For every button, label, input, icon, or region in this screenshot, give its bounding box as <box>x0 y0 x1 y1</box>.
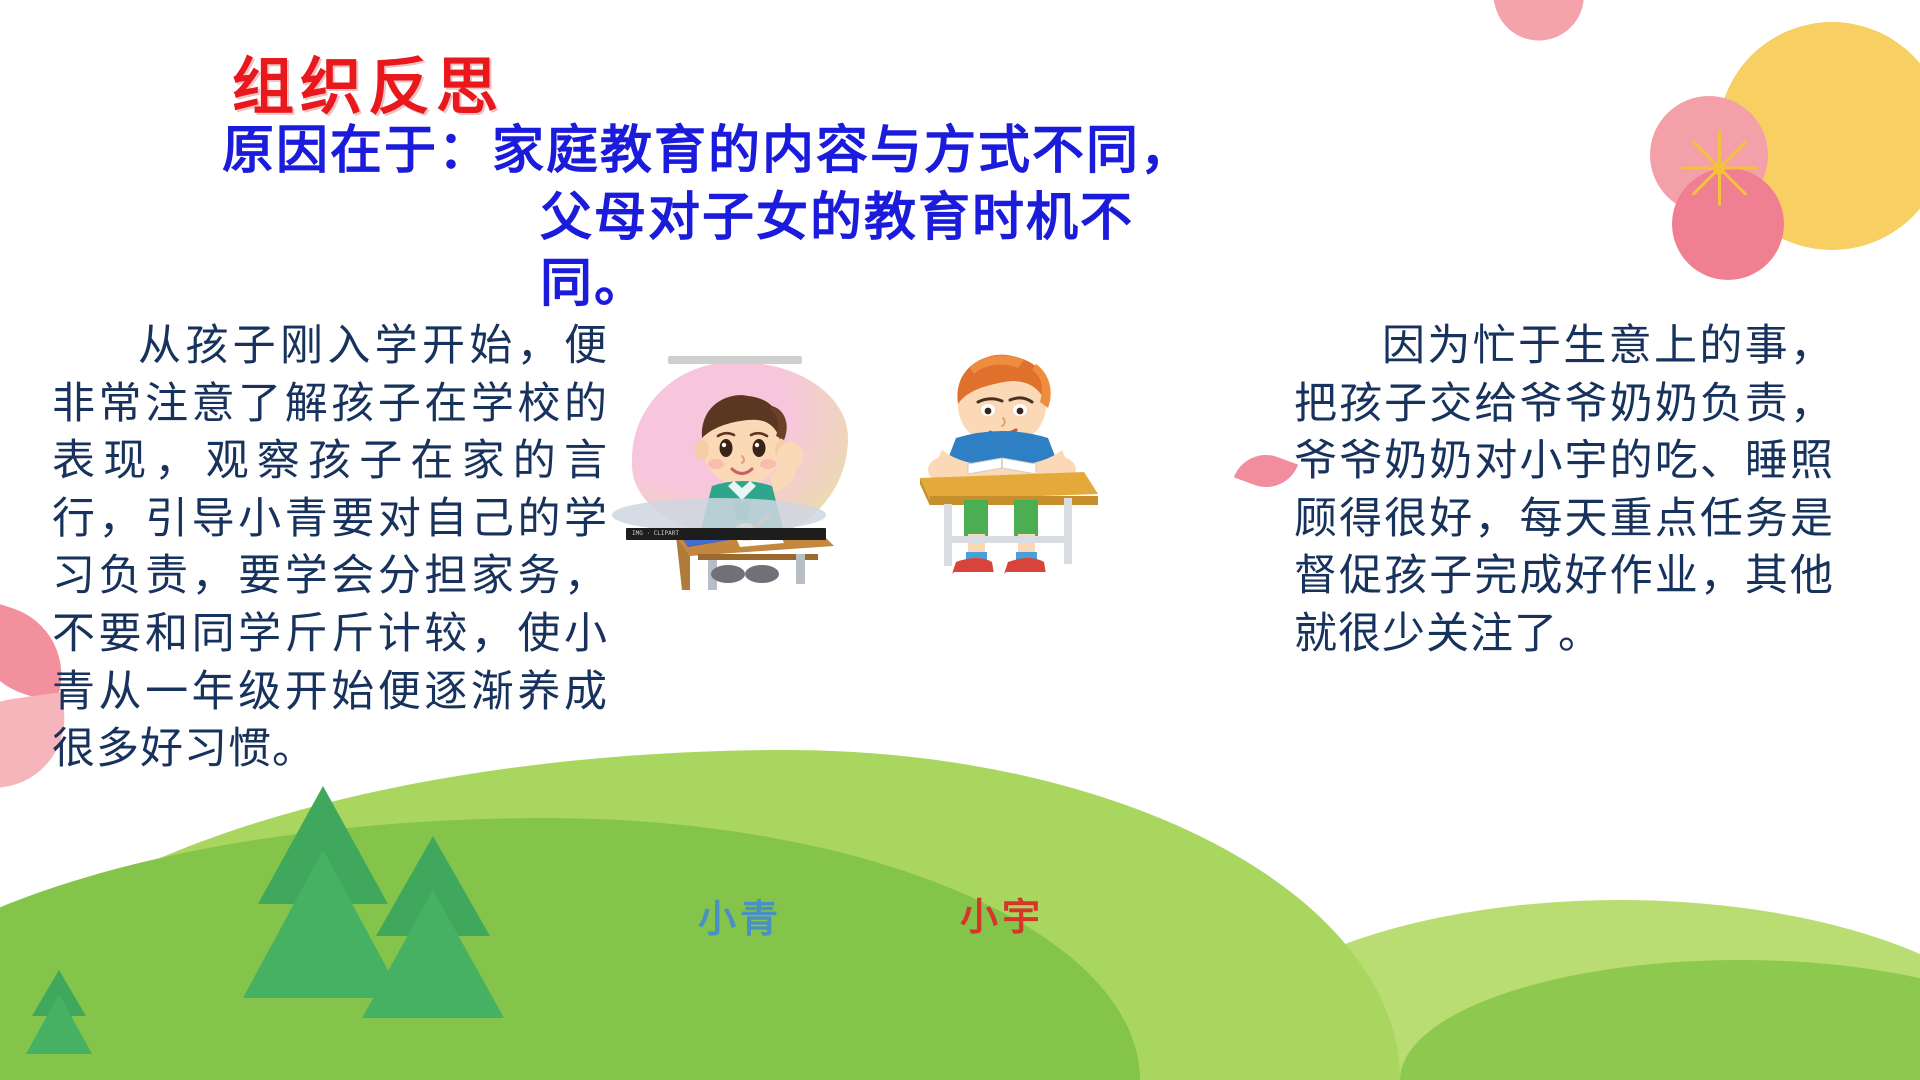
xiaoqing-figure-icon <box>620 340 860 590</box>
caption-xiaoyu: 小宇 <box>886 886 1118 941</box>
caption-xiaoqing: 小青 <box>620 888 860 943</box>
xiaoyu-figure-icon <box>886 338 1118 588</box>
right-paragraph: 因为忙于生意上的事，把孩子交给爷爷奶奶负责，爷爷奶奶对小宇的吃、睡照顾得很好，每… <box>1294 318 1834 664</box>
subtitle-line-1: 原因在于：家庭教育的内容与方式不同， <box>222 120 1194 181</box>
page-title: 组织反思 <box>232 36 504 126</box>
left-paragraph: 从孩子刚入学开始，便非常注意了解孩子在学校的表现，观察孩子在家的言行，引导小青要… <box>52 318 608 779</box>
xiaoqing-shadow <box>612 498 826 532</box>
image-footer-strip: IMG · CLIPART <box>626 528 826 540</box>
illustration-xiaoyu: 小宇 <box>886 338 1118 590</box>
subtitle-line-2: 父母对子女的教育时机不同。 <box>222 185 1222 318</box>
illustration-xiaoqing: 小青 <box>620 340 860 590</box>
subtitle-block: 原因在于：家庭教育的内容与方式不同， 父母对子女的教育时机不同。 <box>222 118 1222 318</box>
